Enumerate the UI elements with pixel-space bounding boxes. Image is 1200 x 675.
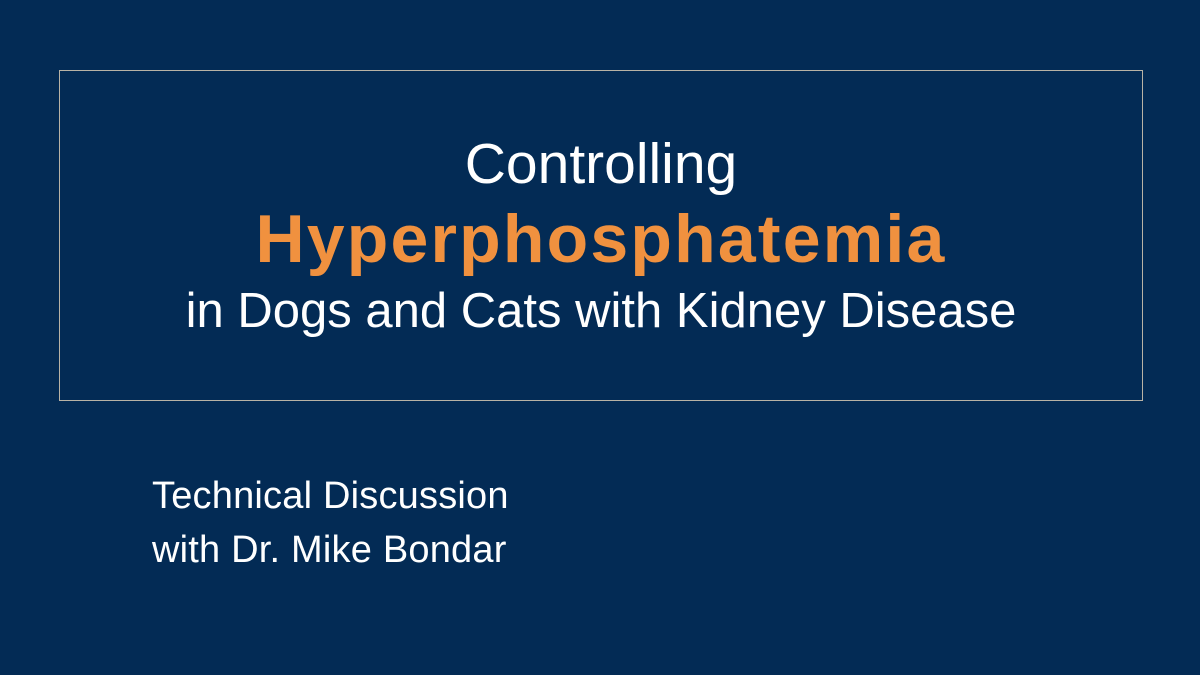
presentation-slide: Controlling Hyperphosphatemia in Dogs an… bbox=[0, 0, 1200, 675]
presenter-session-type: Technical Discussion bbox=[152, 470, 509, 524]
title-line-subtitle: in Dogs and Cats with Kidney Disease bbox=[186, 287, 1017, 336]
presenter-name: with Dr. Mike Bondar bbox=[152, 524, 509, 578]
title-line-emphasis: Hyperphosphatemia bbox=[255, 205, 946, 273]
title-line-primary: Controlling bbox=[465, 136, 737, 193]
title-frame: Controlling Hyperphosphatemia in Dogs an… bbox=[59, 70, 1143, 401]
presenter-block: Technical Discussion with Dr. Mike Bonda… bbox=[152, 470, 509, 578]
